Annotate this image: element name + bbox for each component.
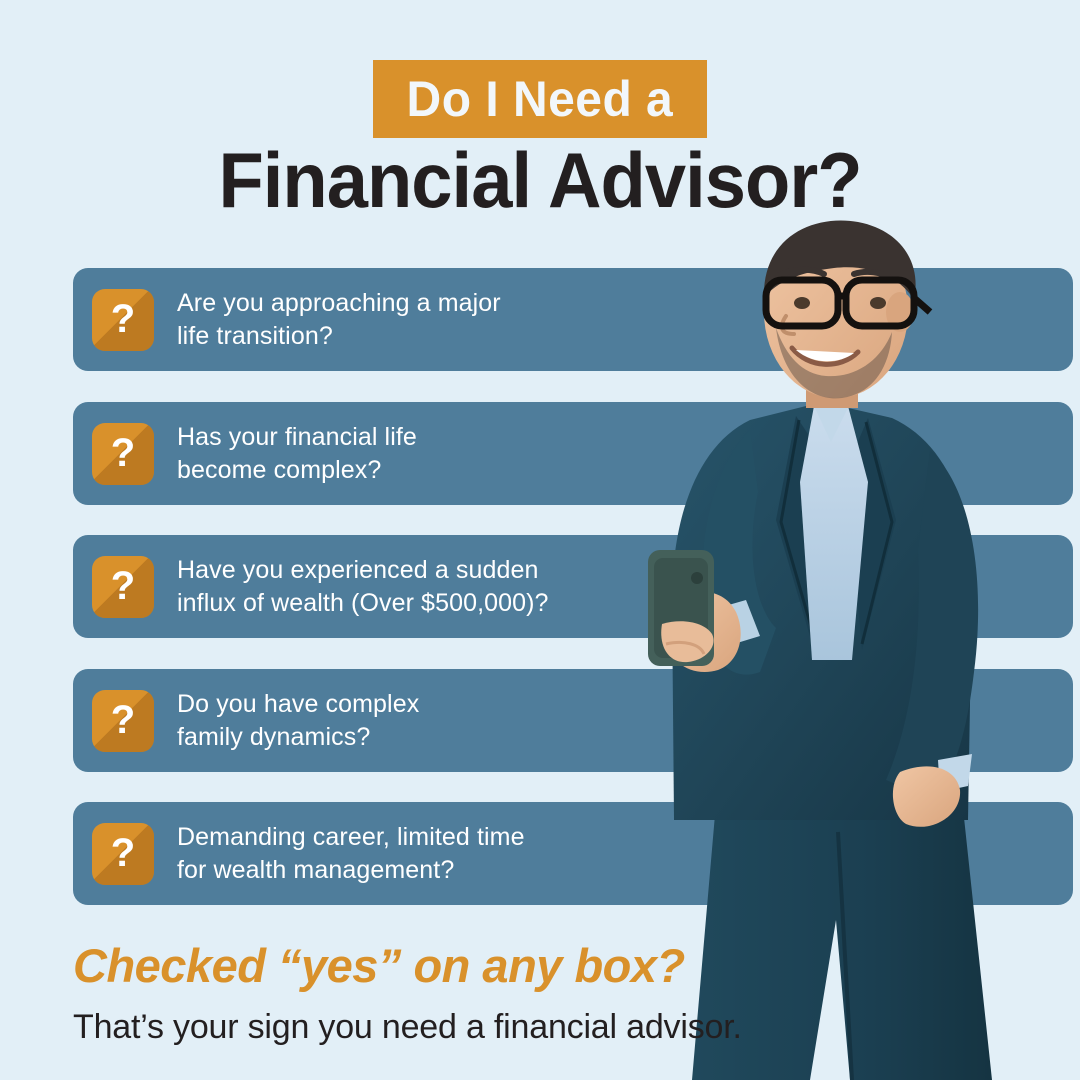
question-text: Are you approaching a major life transit…: [177, 287, 501, 353]
question-row-4: ? Do you have complex family dynamics?: [73, 669, 1073, 772]
question-mark-icon: ?: [92, 289, 154, 351]
icon-glyph: ?: [92, 690, 154, 752]
question-text: Demanding career, limited time for wealt…: [177, 821, 525, 887]
question-row-3: ? Have you experienced a sudden influx o…: [73, 535, 1073, 638]
question-row-2: ? Has your financial life become complex…: [73, 402, 1073, 505]
question-list: ? Are you approaching a major life trans…: [0, 0, 1080, 1080]
question-text: Have you experienced a sudden influx of …: [177, 554, 549, 620]
infographic-canvas: Do I Need a Financial Advisor? ? Are you…: [0, 0, 1080, 1080]
icon-glyph: ?: [92, 823, 154, 885]
question-mark-icon: ?: [92, 556, 154, 618]
icon-glyph: ?: [92, 289, 154, 351]
question-text: Do you have complex family dynamics?: [177, 688, 419, 754]
question-row-1: ? Are you approaching a major life trans…: [73, 268, 1073, 371]
question-mark-icon: ?: [92, 690, 154, 752]
question-text: Has your financial life become complex?: [177, 421, 417, 487]
footer-subline: That’s your sign you need a financial ad…: [73, 1008, 742, 1047]
question-mark-icon: ?: [92, 423, 154, 485]
footer-headline: Checked “yes” on any box?: [73, 938, 685, 993]
icon-glyph: ?: [92, 423, 154, 485]
icon-glyph: ?: [92, 556, 154, 618]
question-row-5: ? Demanding career, limited time for wea…: [73, 802, 1073, 905]
question-mark-icon: ?: [92, 823, 154, 885]
